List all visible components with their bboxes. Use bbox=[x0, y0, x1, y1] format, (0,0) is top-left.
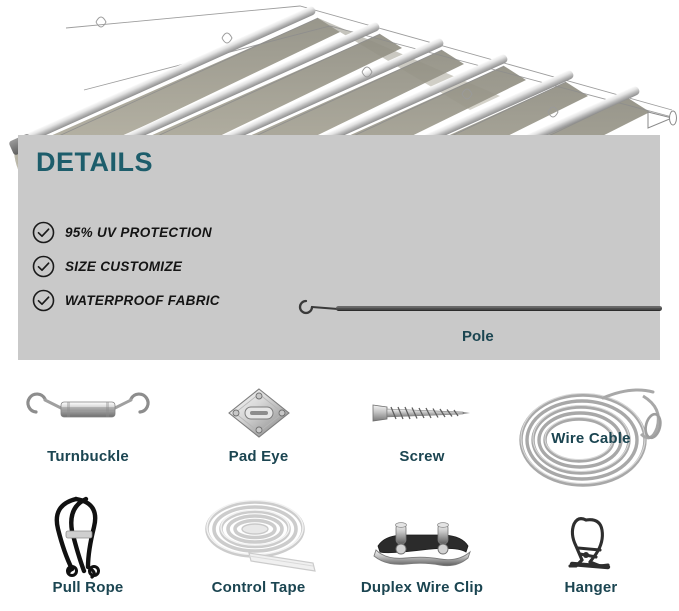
feature-list: 95% UV PROTECTION SIZE CUSTOMIZE bbox=[32, 217, 322, 319]
pull-rope-icon bbox=[28, 491, 148, 579]
details-panel: DETAILS 95% UV PROTECTION bbox=[18, 135, 660, 360]
hanger-clip-icon bbox=[556, 510, 626, 576]
feature-label: SIZE CUSTOMIZE bbox=[65, 259, 182, 274]
screw-icon bbox=[367, 393, 477, 433]
control-tape-icon bbox=[189, 491, 329, 579]
pole-item: Pole bbox=[290, 290, 665, 360]
accessory-turnbuckle: Turnbuckle bbox=[0, 378, 176, 493]
check-circle-icon bbox=[32, 289, 55, 312]
accessory-grid: Turnbuckle bbox=[0, 378, 679, 611]
accessory-label: Screw bbox=[341, 448, 503, 465]
wire-cable-art: Wire Cable bbox=[503, 378, 679, 493]
accessory-label: Duplex Wire Clip bbox=[341, 579, 503, 596]
accessory-label: Turnbuckle bbox=[0, 448, 176, 465]
pole-label: Pole bbox=[462, 328, 494, 345]
check-circle-icon bbox=[32, 255, 55, 278]
feature-item-size-customize: SIZE CUSTOMIZE bbox=[32, 251, 322, 282]
accessory-label: Pull Rope bbox=[0, 579, 176, 596]
accessory-control-tape: Control Tape bbox=[176, 491, 341, 611]
details-heading: DETAILS bbox=[36, 147, 153, 178]
accessory-label: Control Tape bbox=[176, 579, 341, 596]
pad-eye-art bbox=[176, 378, 341, 448]
accessory-label: Hanger bbox=[503, 579, 679, 596]
hanger-art bbox=[503, 491, 679, 579]
pole-with-hook-icon bbox=[290, 290, 665, 322]
feature-item-waterproof-fabric: WATERPROOF FABRIC bbox=[32, 285, 322, 316]
feature-item-uv-protection: 95% UV PROTECTION bbox=[32, 217, 322, 248]
accessory-label: Wire Cable bbox=[551, 430, 630, 447]
duplex-wire-clip-icon bbox=[362, 516, 482, 576]
screw-art bbox=[341, 378, 503, 448]
feature-label: 95% UV PROTECTION bbox=[65, 225, 212, 240]
accessory-label: Pad Eye bbox=[176, 448, 341, 465]
duplex-wire-clip-art bbox=[341, 491, 503, 579]
turnbuckle-icon bbox=[23, 383, 153, 443]
feature-label: WATERPROOF FABRIC bbox=[65, 293, 220, 308]
accessory-pull-rope: Pull Rope bbox=[0, 491, 176, 611]
accessory-pad-eye: Pad Eye bbox=[176, 378, 341, 493]
pull-rope-art bbox=[0, 491, 176, 579]
accessory-duplex-wire-clip: Duplex Wire Clip bbox=[341, 491, 503, 611]
accessory-hanger: Hanger bbox=[503, 491, 679, 611]
accessory-wire-cable: Wire Cable bbox=[503, 378, 679, 493]
product-infographic: DETAILS 95% UV PROTECTION bbox=[0, 0, 679, 611]
accessory-screw: Screw bbox=[341, 378, 503, 493]
turnbuckle-art bbox=[0, 378, 176, 448]
pad-eye-icon bbox=[219, 381, 299, 445]
control-tape-art bbox=[176, 491, 341, 579]
check-circle-icon bbox=[32, 221, 55, 244]
